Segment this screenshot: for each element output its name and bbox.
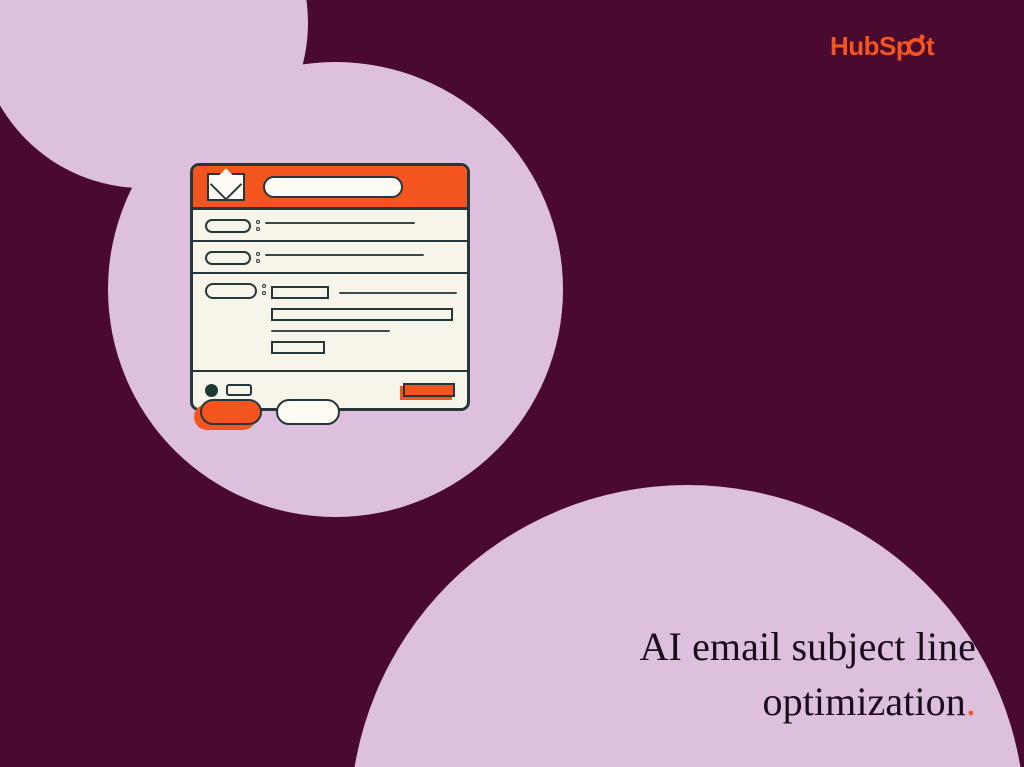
dot [256,252,260,256]
svg-text:HubSp: HubSp [830,31,911,61]
list-item[interactable] [193,210,467,242]
search-input[interactable] [263,176,403,198]
dot [256,220,260,224]
headline-line-1: AI email subject line [640,624,976,669]
field-box[interactable] [271,341,325,354]
page-title: AI email subject line optimization. [416,619,976,729]
row-content [265,218,457,224]
svg-text:t: t [926,31,935,61]
list-item[interactable] [193,242,467,274]
dot [262,291,266,295]
poster-canvas: HubSp t [0,0,1024,767]
row-tag-pill [205,219,251,233]
text-line [265,254,424,256]
primary-action-button-face [200,399,262,425]
email-card [190,163,470,411]
dot [262,284,266,288]
more-dots-icon [251,252,265,263]
toggle-icon[interactable] [226,384,252,396]
status-dot-icon [205,384,218,397]
more-dots-icon [251,220,265,231]
dot [256,227,260,231]
dot [256,259,260,263]
email-composer-illustration [190,163,470,411]
primary-action-button[interactable] [200,399,262,425]
envelope-icon [207,173,245,201]
send-action-bar-face [403,383,455,397]
text-line [265,222,415,224]
text-line [339,292,457,294]
hubspot-wordmark-icon: HubSp t [830,30,950,64]
row-content [271,282,457,354]
headline-line-2: optimization [763,679,966,724]
email-card-body [193,210,467,361]
subject-line-group [271,286,457,299]
list-item[interactable] [193,274,467,361]
row-tag-pill [205,251,251,265]
headline-accent-period: . [966,679,976,724]
field-box[interactable] [271,286,329,299]
secondary-action-button[interactable] [276,399,340,425]
email-card-header [193,166,467,210]
row-content [265,250,457,256]
send-action-bar[interactable] [403,383,455,397]
field-box[interactable] [271,308,453,321]
card-action-buttons [200,399,340,425]
text-line [271,330,390,332]
hubspot-logo: HubSp t [830,30,950,64]
row-tag-pill [205,283,257,299]
more-dots-icon [257,284,271,295]
